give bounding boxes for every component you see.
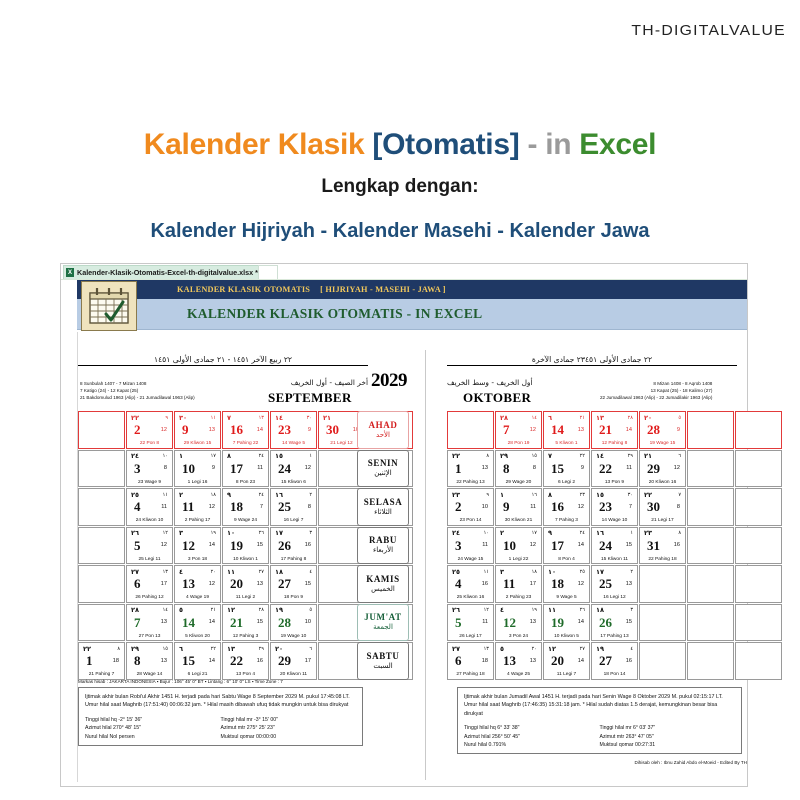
day-cell[interactable]: ١١٢٧201311 Legi 2 [222, 565, 269, 603]
javanese-numeral: ١٠ [484, 530, 489, 536]
day-cell[interactable]: ٢٣٩21023 Pon 14 [447, 488, 494, 526]
javanese-date: 8 Pon 23 [223, 480, 268, 485]
secondary-number: 12 [209, 504, 215, 510]
hijri-date: ١١ [548, 606, 556, 614]
gregorian-date: 29 [278, 653, 291, 669]
day-name-latin: JUM'AT [364, 613, 401, 622]
day-cell-empty [639, 642, 686, 680]
calendar-year: 2029 [371, 370, 407, 392]
secondary-number: 9 [308, 427, 311, 433]
day-cell[interactable]: ٦٢١14135 Kliwon 1 [543, 411, 590, 449]
day-name-sabtu[interactable]: SABTUالسبت [357, 642, 409, 680]
day-cell[interactable]: ١٤٣٠23914 Wage 5 [270, 411, 317, 449]
javanese-date: 13 Pon 4 [223, 672, 268, 677]
javanese-date: 3 Pon 18 [175, 557, 220, 562]
day-cell[interactable]: ٢١٧10121 Legi 22 [495, 527, 542, 565]
hijri-date: ٢٥ [452, 568, 460, 576]
day-name-column: AHADالأحدSENINالإثنينSELASAالثلاثاءRABUا… [357, 411, 409, 681]
gregorian-date: 18 [230, 499, 243, 515]
javanese-date: 19 Wage 15 [640, 441, 685, 446]
gregorian-date: 6 [455, 653, 462, 669]
secondary-number: 13 [482, 465, 488, 471]
september-detail-lines: 8 Sunbulah 1407 - 7 Mizan 14087 Katigo (… [80, 380, 195, 401]
gregorian-date: 14 [182, 615, 195, 631]
day-cell[interactable]: ٥٢٠13134 Wage 25 [495, 642, 542, 680]
gregorian-date: 25 [599, 576, 612, 592]
new-tab-button[interactable] [258, 265, 278, 279]
day-cell[interactable]: ٣١٨11172 Pahing 23 [495, 565, 542, 603]
day-cell[interactable]: ١٧٣261617 Pahing 8 [270, 527, 317, 565]
hilal-fact: Azimut mtr 263° 47' 05" [600, 734, 736, 740]
gregorian-date: 12 [182, 538, 195, 554]
javanese-date: 10 Kliwon 5 [544, 634, 589, 639]
javanese-date: 9 Wage 24 [223, 518, 268, 523]
gregorian-date: 17 [551, 538, 564, 554]
gregorian-date: 13 [182, 576, 195, 592]
day-cell[interactable]: ٢٦١٢51225 Legi 11 [126, 527, 173, 565]
secondary-number: 10 [482, 504, 488, 510]
javanese-numeral: ٨ [678, 530, 681, 536]
hilal-fact: Muktsul qomar 00:00:00 [221, 734, 357, 740]
javanese-numeral: ١٧ [532, 530, 537, 536]
hilal-fact: Tinggi hilal hq -2° 15' 36" [85, 717, 221, 723]
day-cell[interactable]: ٢٩١٥81328 Wage 14 [126, 642, 173, 680]
day-cell[interactable]: ١٦١241515 Kliwon 11 [591, 527, 638, 565]
day-cell-empty [639, 604, 686, 642]
hijri-date: ١٦ [275, 491, 283, 499]
hijri-date: ١٩ [596, 645, 604, 653]
hijri-date: ٣٠ [179, 414, 187, 422]
javanese-date: 25 Kliwon 16 [448, 595, 493, 600]
gregorian-date: 4 [134, 499, 141, 515]
oktober-markas-line: Dihisab oleh : Ibnu Zahid Abdo el-Moeid … [457, 760, 747, 765]
javanese-date: 20 Kliwon 16 [640, 480, 685, 485]
day-name-senin[interactable]: SENINالإثنين [357, 450, 409, 488]
day-cell[interactable]: ١٤٢٩221113 Pon 9 [591, 450, 638, 488]
excel-file-icon: X [66, 268, 74, 277]
day-cell-empty [78, 527, 125, 565]
hijri-date: ٩ [227, 491, 231, 499]
gregorian-date: 2 [455, 499, 462, 515]
september-arabic-range: ٢٢ ربيع الآخر ١٤٥١ - ٢١ جمادى الأولى ١٤٥… [78, 355, 368, 366]
javanese-date: 14 Wage 10 [592, 518, 637, 523]
javanese-date: 24 Wage 15 [448, 557, 493, 562]
day-cell[interactable]: ٢١٦291220 Kliwon 16 [639, 450, 686, 488]
month-divider [425, 350, 426, 780]
javanese-date: 15 Kliwon 11 [592, 557, 637, 562]
banner-main-label: KALENDER KLASIK OTOMATIS - IN EXCEL [187, 306, 482, 322]
gregorian-date: 27 [278, 576, 291, 592]
day-name-arabic: الثلاثاء [374, 509, 392, 516]
day-cell-empty [687, 488, 734, 526]
hijri-date: ١٣ [227, 645, 235, 653]
secondary-number: 14 [209, 619, 215, 625]
hijri-date: ١٢ [227, 606, 235, 614]
secondary-number: 13 [257, 581, 263, 587]
hijri-date: ١٧ [275, 529, 283, 537]
gregorian-date: 9 [503, 499, 510, 515]
gregorian-date: 15 [182, 653, 195, 669]
hijri-date: ١٠ [227, 529, 235, 537]
day-cell[interactable]: ٢٢٧30821 Legi 17 [639, 488, 686, 526]
javanese-date: 20 Kliwon 11 [271, 672, 316, 677]
day-cell[interactable]: ٢٩١٥8829 Wage 20 [495, 450, 542, 488]
day-cell[interactable]: ١٩٥281019 Wage 10 [270, 604, 317, 642]
day-cell[interactable]: ٢٢٨11322 Pahing 13 [447, 450, 494, 488]
gregorian-date: 20 [230, 576, 243, 592]
javanese-numeral: ٩ [486, 492, 489, 498]
javanese-numeral: ٢٦ [580, 607, 585, 613]
secondary-number: 7 [629, 504, 632, 510]
day-cell-empty [735, 527, 782, 565]
gregorian-date: 19 [230, 538, 243, 554]
gregorian-date: 9 [182, 422, 189, 438]
gregorian-date: 10 [182, 461, 195, 477]
day-cell[interactable]: ٢٠٥28919 Wage 15 [639, 411, 686, 449]
hijri-date: ٢٣ [452, 491, 460, 499]
secondary-number: 13 [530, 658, 536, 664]
javanese-numeral: ٢١ [211, 607, 216, 613]
secondary-number: 14 [578, 658, 584, 664]
day-cell-empty [687, 642, 734, 680]
javanese-date: 30 Kliwon 21 [496, 518, 541, 523]
day-cell[interactable]: ٢٧١٣61726 Pahing 12 [126, 565, 173, 603]
day-cell[interactable]: ٦٢٢15146 Legi 21 [174, 642, 221, 680]
day-cell[interactable]: ١٢٢٨211512 Pahing 3 [222, 604, 269, 642]
hijri-date: ٢٠ [644, 414, 652, 422]
gregorian-date: 23 [278, 422, 291, 438]
secondary-number: 7 [260, 504, 263, 510]
hijri-date: ٢٩ [500, 452, 508, 460]
secondary-number: 12 [161, 542, 167, 548]
javanese-date: 12 Pahing 3 [223, 634, 268, 639]
day-cell[interactable]: ١٨٤271518 Pon 9 [270, 565, 317, 603]
javanese-numeral: ٢٧ [259, 569, 264, 575]
day-cell[interactable]: ٢٠٦291720 Kliwon 11 [270, 642, 317, 680]
day-name-arabic: الإثنين [374, 470, 391, 477]
week-row: ٢٥١١41625 Kliwon 16٣١٨11172 Pahing 23١٠٢… [447, 565, 783, 604]
javanese-date: 22 Pahing 13 [448, 480, 493, 485]
day-name-jumat[interactable]: JUM'ATالجمعة [357, 604, 409, 642]
javanese-numeral: ١٩ [211, 530, 216, 536]
day-name-selasa[interactable]: SELASAالثلاثاء [357, 488, 409, 526]
day-cell[interactable]: ١٣٢٩221613 Pon 4 [222, 642, 269, 680]
day-cell[interactable]: ١١٦91130 Kliwon 21 [495, 488, 542, 526]
javanese-numeral: ١٩ [532, 607, 537, 613]
september-ijtimak-note: Ijtimak akhir bulan Robi'ul Akhir 1451 H… [85, 693, 356, 710]
day-cell[interactable]: ٢٦١٢51126 Legi 17 [447, 604, 494, 642]
javanese-numeral: ٣ [309, 530, 312, 536]
day-cell[interactable]: ٢٢٨11821 Pahing 7 [78, 642, 125, 680]
september-name: SEPTEMBER [268, 389, 352, 407]
javanese-date: 9 Wage 5 [544, 595, 589, 600]
hijri-date: ٢٢ [131, 414, 139, 422]
javanese-date: 21 Pahing 7 [79, 672, 124, 677]
calendar-check-icon [81, 281, 137, 331]
javanese-date: 29 Wage 20 [496, 480, 541, 485]
secondary-number: 16 [482, 581, 488, 587]
secondary-number: 12 [305, 465, 311, 471]
gregorian-date: 27 [599, 653, 612, 669]
gregorian-date: 5 [455, 615, 462, 631]
secondary-number: 14 [209, 658, 215, 664]
hijri-date: ٢١ [644, 452, 652, 460]
secondary-number: 11 [530, 504, 536, 510]
hilal-fact: Muktsul qomar 00:27:31 [600, 742, 736, 748]
hilal-fact: Tinggi hilal mr -3° 15' 00" [221, 717, 357, 723]
javanese-date: 5 Kliwon 20 [175, 634, 220, 639]
javanese-numeral: ١٢ [484, 607, 489, 613]
hijri-date: ٥ [500, 645, 504, 653]
secondary-number: 15 [257, 542, 263, 548]
gregorian-date: 19 [551, 615, 564, 631]
september-markas-line: Markas hisab : JAKARTA INDONESIA ▪ Bujur… [78, 679, 368, 684]
javanese-date: 27 Pon 13 [127, 634, 172, 639]
javanese-numeral: ٣٠ [307, 415, 312, 421]
day-cell[interactable]: ٤١٩12133 Pon 24 [495, 604, 542, 642]
day-name-rabu[interactable]: RABUالأربعاء [357, 527, 409, 565]
day-cell[interactable]: ٧١٣16147 Pahing 22 [222, 411, 269, 449]
hijri-date: ٨ [548, 491, 552, 499]
secondary-number: 11 [257, 465, 263, 471]
javanese-date: 26 Legi 17 [448, 634, 493, 639]
gregorian-date: 13 [503, 653, 516, 669]
secondary-number: 18 [113, 658, 119, 664]
day-name-latin: AHAD [369, 421, 398, 430]
workbook-tab[interactable]: X Kalender-Klasik-Otomatis-Excel-th-digi… [63, 265, 270, 279]
secondary-number: 16 [257, 658, 263, 664]
gregorian-date: 5 [134, 538, 141, 554]
day-cell[interactable]: ٣٠١١91329 Kliwon 15 [174, 411, 221, 449]
javanese-numeral: ٢٨ [628, 415, 633, 421]
title-part-4: Excel [579, 128, 656, 161]
day-cell-empty [735, 604, 782, 642]
hijri-date: ١٤ [275, 414, 283, 422]
javanese-date: 5 Kliwon 1 [544, 441, 589, 446]
javanese-numeral: ١٤ [532, 415, 537, 421]
javanese-numeral: ٢٤ [259, 492, 264, 498]
javanese-numeral: ٣ [630, 607, 633, 613]
hijri-date: ١٥ [275, 452, 283, 460]
day-cell[interactable]: ٩٢٤1879 Wage 24 [222, 488, 269, 526]
banner-strip-main: KALENDER KLASIK OTOMATIS - IN EXCEL [77, 299, 747, 330]
gregorian-date: 26 [599, 615, 612, 631]
secondary-number: 9 [581, 465, 584, 471]
gregorian-date: 12 [503, 615, 516, 631]
promo-block: Kalender Klasik [Otomatis] - in Excel Le… [0, 128, 800, 243]
day-name-arabic: السبت [373, 663, 392, 670]
hijri-date: ٣ [179, 529, 183, 537]
hijri-date: ٦ [179, 645, 183, 653]
hijri-date: ٢٤ [131, 452, 139, 460]
gregorian-date: 11 [503, 576, 515, 592]
september-note-box: Ijtimak akhir bulan Robi'ul Akhir 1451 H… [78, 687, 363, 746]
day-cell[interactable]: ٨٢٤17118 Pon 23 [222, 450, 269, 488]
javanese-numeral: ٢ [309, 492, 312, 498]
day-cell[interactable]: ٥٢١14145 Kliwon 20 [174, 604, 221, 642]
gregorian-date: 2 [134, 422, 141, 438]
javanese-numeral: ١١ [211, 415, 216, 421]
javanese-date: 17 Pahing 8 [271, 557, 316, 562]
hijri-date: ١٣ [596, 414, 604, 422]
day-cell[interactable]: ١٣٢٨211412 Pahing 8 [591, 411, 638, 449]
day-cell[interactable]: ١٠٢٥18129 Wage 5 [543, 565, 590, 603]
day-cell[interactable]: ١٢٢٧201411 Legi 7 [543, 642, 590, 680]
day-cell[interactable]: ٣١٩12143 Pon 18 [174, 527, 221, 565]
hijri-date: ٧ [227, 414, 231, 422]
javanese-date: 12 Pahing 8 [592, 441, 637, 446]
javanese-date: 25 Legi 11 [127, 557, 172, 562]
javanese-numeral: ١٨ [211, 492, 216, 498]
day-cell-empty [687, 527, 734, 565]
oktober-name: OKTOBER [463, 389, 531, 407]
day-cell[interactable]: ١٦٢25816 Legi 7 [270, 488, 317, 526]
javanese-numeral: ٢٢ [580, 453, 585, 459]
day-cell[interactable]: ٢٧١٣61827 Pahing 18 [447, 642, 494, 680]
gregorian-date: 18 [551, 576, 564, 592]
day-name-latin: KAMIS [366, 575, 400, 584]
day-name-kamis[interactable]: KAMISالخميس [357, 565, 409, 603]
gregorian-date: 16 [551, 499, 564, 515]
day-cell[interactable]: ٢٤١٠3823 Wage 9 [126, 450, 173, 488]
gregorian-date: 15 [551, 461, 564, 477]
day-cell[interactable]: ٢٨١٤71228 Pon 19 [495, 411, 542, 449]
day-cell[interactable]: ١٩٤271618 Pon 14 [591, 642, 638, 680]
day-cell[interactable]: ٢٥١١41124 Kliwon 10 [126, 488, 173, 526]
day-cell[interactable]: ٢٤١٠31124 Wage 15 [447, 527, 494, 565]
javanese-numeral: ٥ [678, 415, 681, 421]
day-cell-empty [78, 450, 125, 488]
javanese-numeral: ١١ [484, 569, 489, 575]
hijri-date: ١٠ [548, 568, 556, 576]
javanese-date: 11 Legi 2 [223, 595, 268, 600]
hilal-fact: Nurul hilal 0.791% [464, 742, 600, 748]
gregorian-date: 4 [455, 576, 462, 592]
promo-subtitle-2: Kalender Hijriyah - Kalender Masehi - Ka… [0, 220, 800, 243]
banner-small-label-2: [ HIJRIYAH - MASEHI - JAWA ] [320, 285, 446, 294]
javanese-numeral: ٢١ [580, 415, 585, 421]
javanese-numeral: ١٤ [163, 607, 168, 613]
day-cell[interactable]: ٤٢٠13124 Wage 19 [174, 565, 221, 603]
javanese-date: 7 Pahing 22 [223, 441, 268, 446]
javanese-numeral: ١٥ [532, 453, 537, 459]
day-cell[interactable]: ١١٢٦191410 Kliwon 5 [543, 604, 590, 642]
secondary-number: 18 [482, 658, 488, 664]
javanese-numeral: ١٥ [163, 646, 168, 652]
secondary-number: 11 [161, 504, 167, 510]
day-cell[interactable]: ١٨٣261517 Pahing 13 [591, 604, 638, 642]
day-cell[interactable]: ١٧٢251316 Legi 12 [591, 565, 638, 603]
secondary-number: 13 [578, 427, 584, 433]
day-cell[interactable]: ٧٢٢1596 Legi 2 [543, 450, 590, 488]
secondary-number: 12 [530, 542, 536, 548]
hijri-date: ١٦ [596, 529, 604, 537]
day-cell[interactable]: ٢٨١٤71327 Pon 13 [126, 604, 173, 642]
hilal-fact: Nurul hilal Nol persen [85, 734, 221, 740]
javanese-numeral: ٨ [117, 646, 120, 652]
hijri-date: ٢٠ [275, 645, 283, 653]
secondary-number: 17 [161, 581, 167, 587]
hijri-date: ١٨ [275, 568, 283, 576]
day-cell[interactable]: ١٠٢٦191510 Kliwon 1 [222, 527, 269, 565]
gregorian-date: 3 [455, 538, 462, 554]
secondary-number: 13 [530, 619, 536, 625]
secondary-number: 9 [677, 427, 680, 433]
secondary-number: 12 [674, 465, 680, 471]
day-cell[interactable]: ١٥١241215 Kliwon 6 [270, 450, 317, 488]
gregorian-date: 6 [134, 576, 141, 592]
javanese-date: 1 Legi 16 [175, 480, 220, 485]
gregorian-date: 25 [278, 499, 291, 515]
javanese-numeral: ٢٠ [211, 569, 216, 575]
javanese-numeral: ١ [630, 530, 633, 536]
week-row: ٢٤١٠31124 Wage 15٢١٧10121 Legi 22٩٢٤1714… [447, 527, 783, 566]
javanese-date: 28 Pon 19 [496, 441, 541, 446]
hijri-date: ١٥ [596, 491, 604, 499]
day-cell[interactable]: ٨٢٣16127 Pahing 3 [543, 488, 590, 526]
javanese-numeral: ٦ [678, 453, 681, 459]
javanese-numeral: ٢٤ [580, 530, 585, 536]
javanese-date: 2 Pahing 23 [496, 595, 541, 600]
javanese-numeral: ٢٧ [580, 646, 585, 652]
javanese-date: 17 Pahing 13 [592, 634, 637, 639]
hijri-date: ١ [500, 491, 504, 499]
day-cell[interactable]: ١١٧1091 Legi 16 [174, 450, 221, 488]
day-cell-empty [687, 604, 734, 642]
oktober-hilal-facts: Tinggi hilal hq 6° 33' 38"Tinggi hilal m… [464, 725, 735, 748]
hilal-fact: Tinggi hilal mr 6° 03' 37" [600, 725, 736, 731]
hijri-date: ٢٦ [452, 606, 460, 614]
javanese-numeral: ٢٠ [532, 646, 537, 652]
banner-strip-top: KALENDER KLASIK OTOMATIS [ HIJRIYAH - MA… [77, 280, 747, 299]
hijri-date: ٧ [548, 452, 552, 460]
hijri-date: ٦ [548, 414, 552, 422]
day-cell[interactable]: ١٥٣٠23714 Wage 10 [591, 488, 638, 526]
gregorian-date: 7 [134, 615, 141, 631]
secondary-number: 16 [626, 658, 632, 664]
secondary-number: 15 [257, 619, 263, 625]
secondary-number: 8 [533, 465, 536, 471]
day-cell[interactable]: ٢١٨11122 Pahing 17 [174, 488, 221, 526]
oktober-grid: ٢٨١٤71228 Pon 19٦٢١14135 Kliwon 1١٣٢٨211… [447, 411, 783, 681]
hijri-date: ٢٣ [644, 529, 652, 537]
hijri-date: ١٧ [596, 568, 604, 576]
day-cell[interactable]: ٢٢٩21222 Pon 8 [126, 411, 173, 449]
day-cell[interactable]: ٢٥١١41625 Kliwon 16 [447, 565, 494, 603]
javanese-date: 4 Wage 19 [175, 595, 220, 600]
week-row: ٢٣٩21023 Pon 14١١٦91130 Kliwon 21٨٢٣1612… [447, 488, 783, 527]
oktober-ijtimak-note: Ijtimak akhir bulan Jumadil Awal 1451 H.… [464, 693, 735, 718]
hijri-date: ٢٦ [131, 529, 139, 537]
day-cell-empty [78, 488, 125, 526]
day-cell[interactable]: ٢٣٨311622 Pahing 18 [639, 527, 686, 565]
day-cell[interactable]: ٩٢٤17148 Pon 4 [543, 527, 590, 565]
javanese-date: 24 Kliwon 10 [127, 518, 172, 523]
hijri-date: ١٤ [596, 452, 604, 460]
javanese-numeral: ١١ [163, 492, 168, 498]
secondary-number: 14 [578, 542, 584, 548]
day-name-ahad[interactable]: AHADالأحد [357, 411, 409, 449]
day-cell-empty [687, 565, 734, 603]
javanese-date: 16 Legi 7 [271, 518, 316, 523]
javanese-numeral: ٢٤ [259, 453, 264, 459]
javanese-date: 2 Pahing 17 [175, 518, 220, 523]
hijri-date: ٢٨ [500, 414, 508, 422]
javanese-numeral: ٢٨ [259, 607, 264, 613]
gregorian-date: 29 [647, 461, 660, 477]
week-row: ٢٨١٤71228 Pon 19٦٢١14135 Kliwon 1١٣٢٨211… [447, 411, 783, 450]
javanese-numeral: ٧ [678, 492, 681, 498]
